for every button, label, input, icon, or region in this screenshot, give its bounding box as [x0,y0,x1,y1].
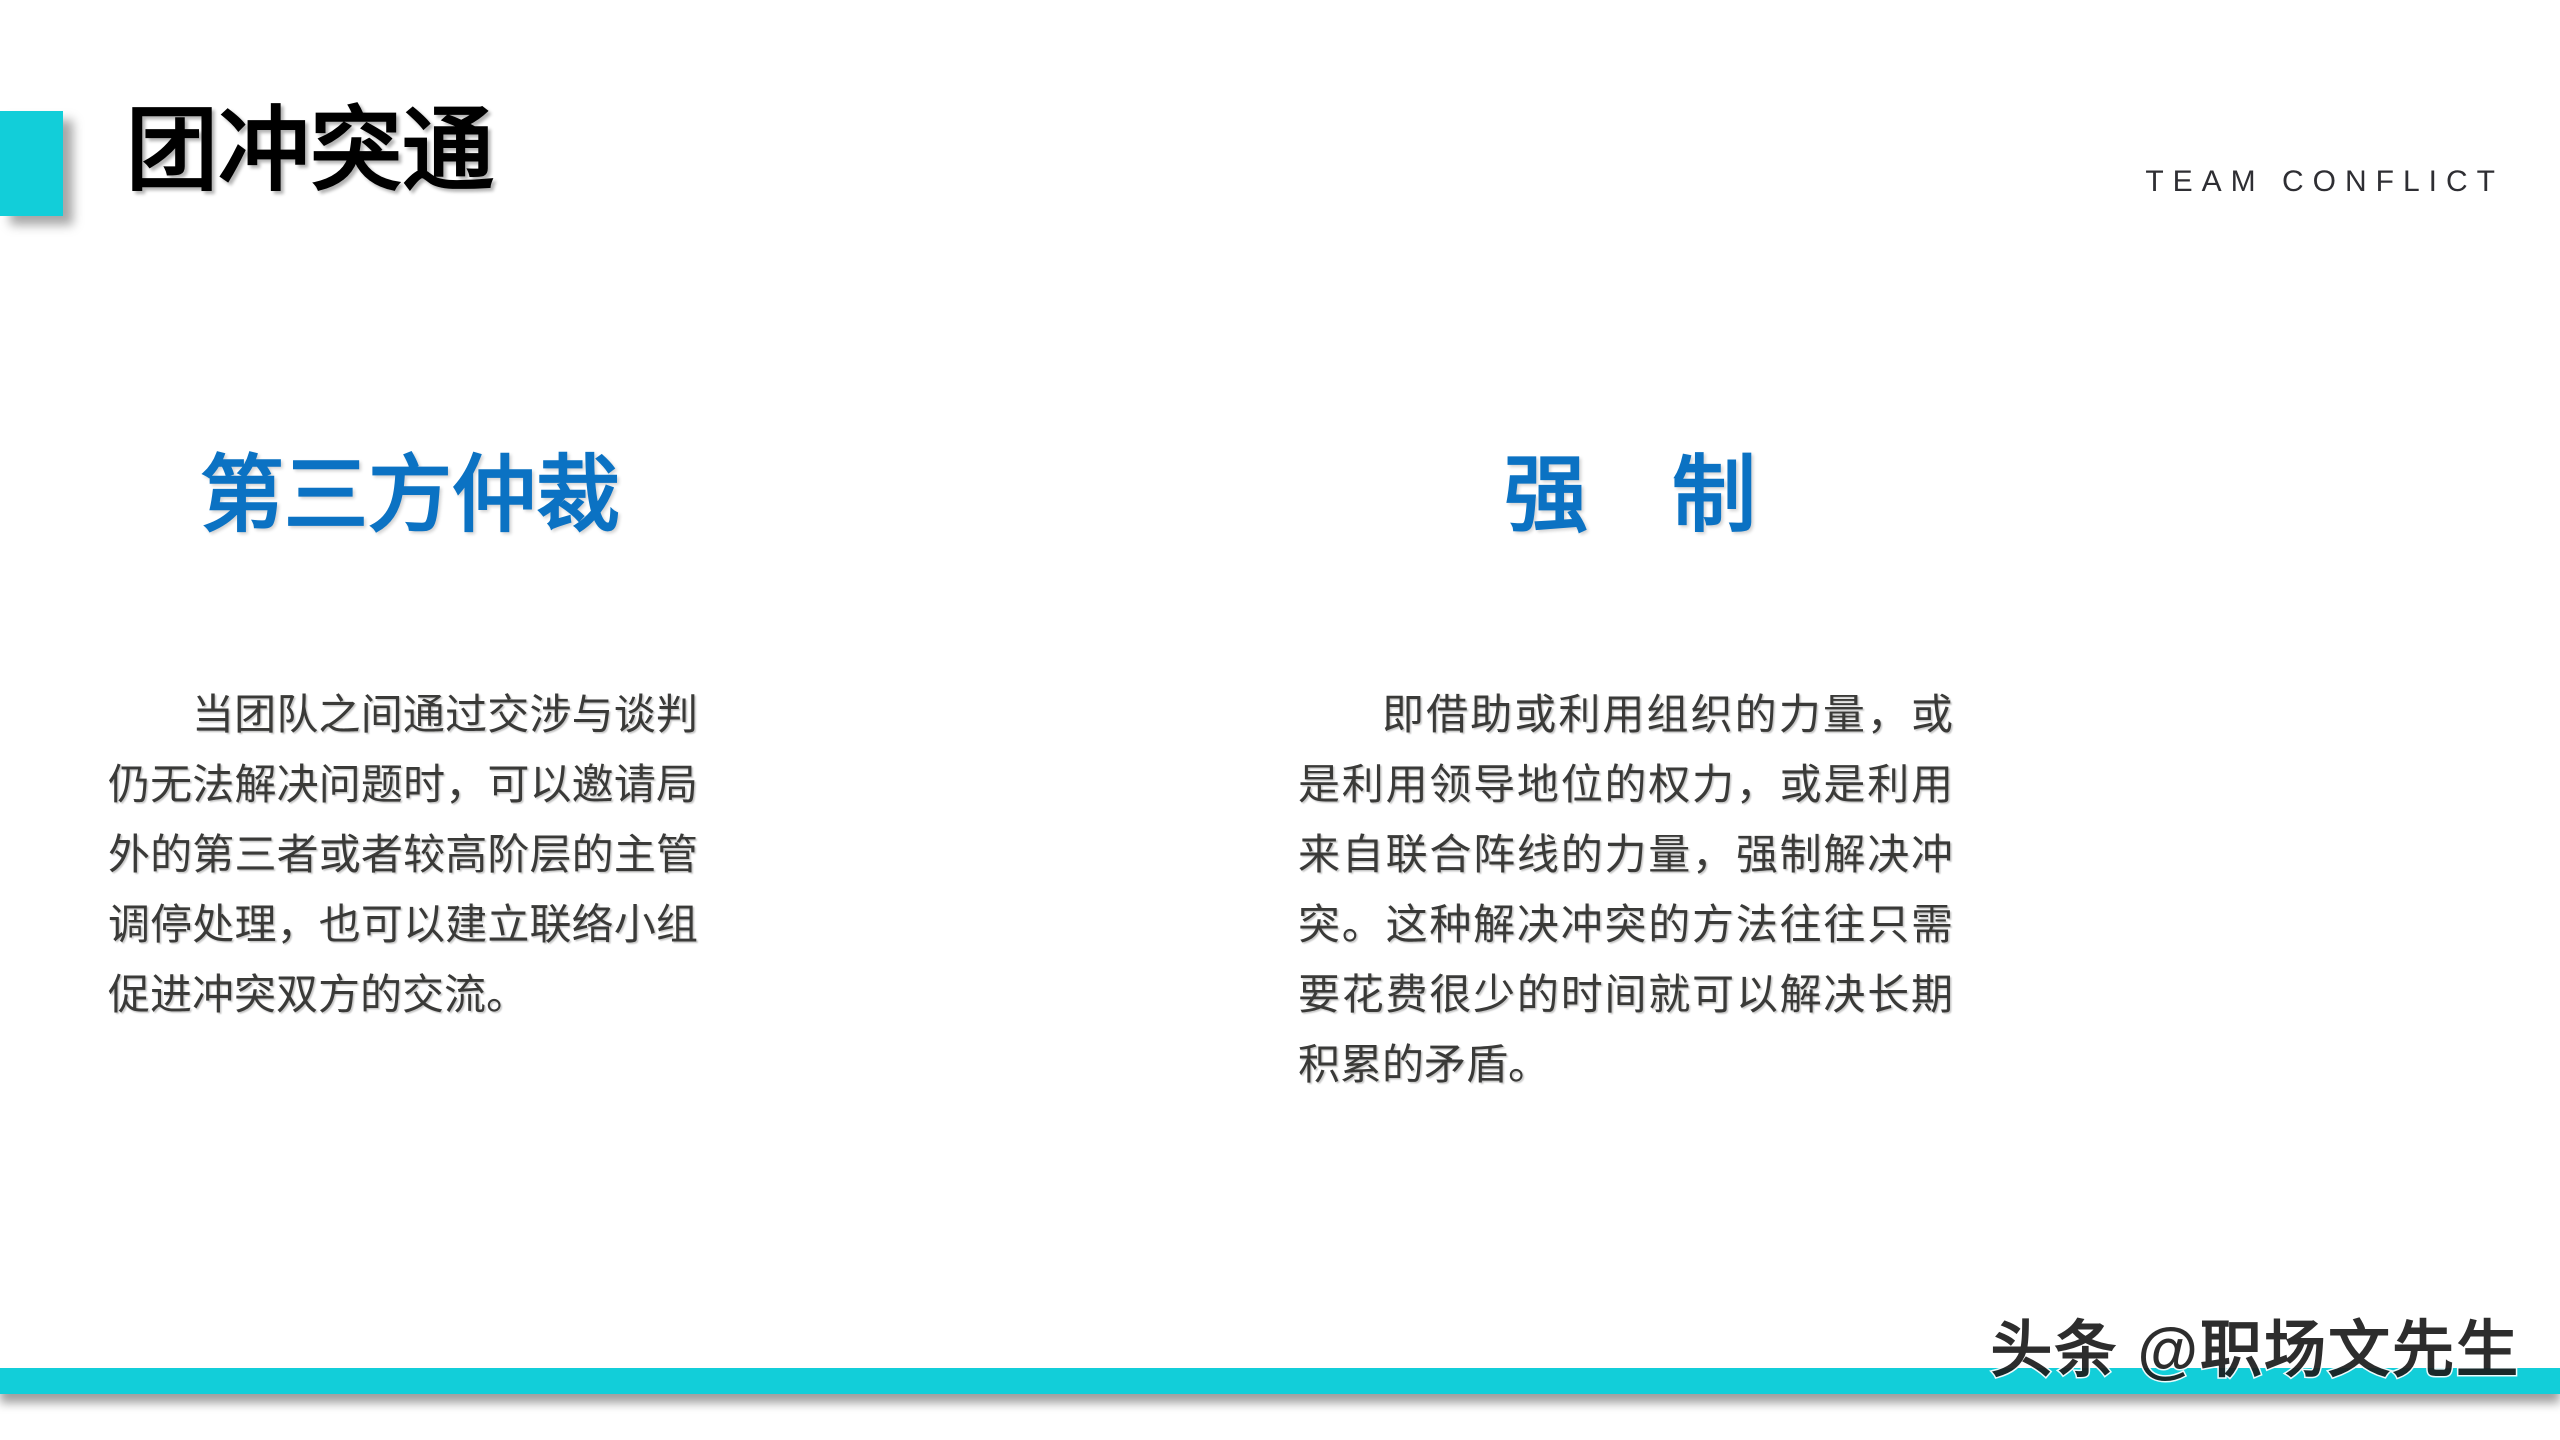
content-column-left: 第三方仲裁 当团队之间通过交涉与谈判仍无法解决问题时，可以邀请局外的第三者或者较… [100,440,1160,1030]
page-title: 团冲突通 [126,96,494,206]
column-heading-third-party-arbitration: 第三方仲裁 [100,440,1160,550]
content-column-right: 强 制 即借助或利用组织的力量，或是利用领导地位的权力，或是利用来自联合阵线的力… [1290,440,2350,1100]
header-accent-block [0,111,63,216]
page-subtitle: TEAM CONFLICT [2145,164,2504,200]
slide-canvas: 团冲突通 TEAM CONFLICT 第三方仲裁 当团队之间通过交涉与谈判仍无法… [0,0,2560,1440]
column-body-third-party-arbitration: 当团队之间通过交涉与谈判仍无法解决问题时，可以邀请局外的第三者或者较高阶层的主管… [100,680,706,1030]
watermark-label: 头条 @职场文先生 [1990,1315,2520,1387]
column-body-coercion: 即借助或利用组织的力量，或是利用领导地位的权力，或是利用来自联合阵线的力量，强制… [1290,680,1961,1100]
column-heading-coercion: 强 制 [1290,440,2350,550]
